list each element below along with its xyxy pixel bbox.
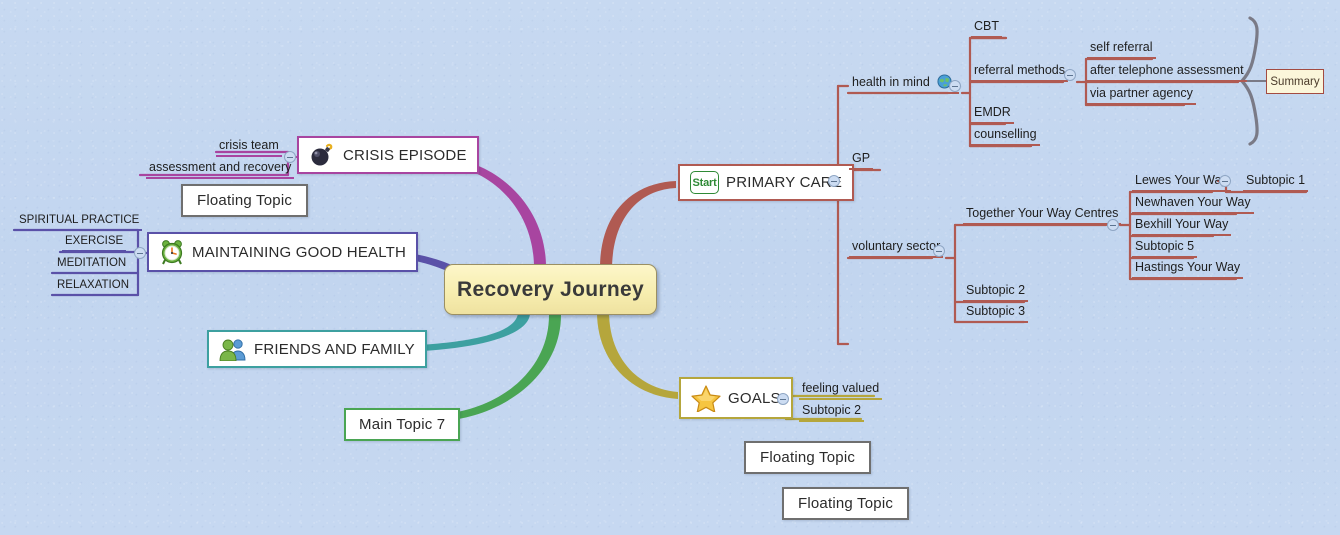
alarm-clock-icon <box>159 239 185 265</box>
bomb-icon <box>309 143 336 167</box>
central-topic[interactable]: Recovery Journey <box>444 264 657 315</box>
collapse-toggle-goals[interactable] <box>777 393 789 405</box>
floating-topic-3-label: Floating Topic <box>798 495 893 512</box>
collapse-toggle-lewes-your-way[interactable] <box>1219 175 1231 187</box>
subtopic-goals-subtopic-2[interactable]: Subtopic 2 <box>799 403 864 422</box>
collapse-toggle-maintaining-good-health[interactable] <box>134 247 146 259</box>
subtopic-health-in-mind-label: health in mind <box>852 75 930 89</box>
main-topic-primary-care-label: PRIMARY CARE <box>726 174 842 191</box>
subtopic-lewes-your-way[interactable]: Lewes Your Way <box>1132 173 1231 192</box>
subtopic-gp[interactable]: GP <box>849 151 873 170</box>
summary-topic-label: Summary <box>1270 76 1319 88</box>
subtopic-after-telephone-assessment[interactable]: after telephone assessment <box>1087 63 1247 82</box>
main-topic-crisis-episode-label: CRISIS EPISODE <box>343 147 467 164</box>
subtopic-meditation[interactable]: MEDITATION <box>54 257 129 274</box>
collapse-toggle-together-your-way-centres[interactable] <box>1107 219 1119 231</box>
collapse-toggle-voluntary-sector[interactable] <box>933 245 945 257</box>
subtopic-spiritual-practice[interactable]: SPIRITUAL PRACTICE <box>16 214 142 231</box>
subtopic-voluntary-subtopic-3[interactable]: Subtopic 3 <box>963 304 1028 323</box>
floating-topic-2-label: Floating Topic <box>760 449 855 466</box>
subtopic-referral-methods[interactable]: referral methods <box>971 63 1068 82</box>
star-icon <box>691 384 721 412</box>
main-topic-7[interactable]: Main Topic 7 <box>344 408 460 441</box>
subtopic-hastings-your-way[interactable]: Hastings Your Way <box>1132 260 1243 279</box>
main-topic-goals[interactable]: GOALS <box>679 377 793 419</box>
main-topic-maintaining-good-health[interactable]: MAINTAINING GOOD HEALTH <box>147 232 418 272</box>
subtopic-subtopic-5[interactable]: Subtopic 5 <box>1132 239 1197 258</box>
subtopic-newhaven-your-way[interactable]: Newhaven Your Way <box>1132 195 1254 214</box>
subtopic-emdr[interactable]: EMDR <box>971 105 1014 124</box>
subtopic-feeling-valued[interactable]: feeling valued <box>799 381 882 400</box>
collapse-toggle-primary-care[interactable] <box>828 175 840 187</box>
subtopic-counselling[interactable]: counselling <box>971 127 1040 146</box>
subtopic-relaxation[interactable]: RELAXATION <box>54 279 132 296</box>
subtopic-together-your-way-centres[interactable]: Together Your Way Centres <box>963 206 1121 225</box>
main-topic-goals-label: GOALS <box>728 390 781 407</box>
subtopic-health-in-mind[interactable]: health in mind <box>849 74 959 94</box>
main-topic-friends-and-family-label: FRIENDS AND FAMILY <box>254 341 415 358</box>
central-topic-label: Recovery Journey <box>457 278 644 302</box>
subtopic-crisis-team[interactable]: crisis team <box>216 138 282 157</box>
subtopic-via-partner-agency[interactable]: via partner agency <box>1087 86 1196 105</box>
subtopic-assessment-and-recovery[interactable]: assessment and recovery <box>146 160 294 179</box>
floating-topic-1-label: Floating Topic <box>197 192 292 209</box>
summary-topic[interactable]: Summary <box>1266 69 1324 94</box>
subtopic-exercise[interactable]: EXERCISE <box>62 235 126 252</box>
subtopic-subtopic-1[interactable]: Subtopic 1 <box>1243 173 1308 192</box>
main-topic-friends-and-family[interactable]: FRIENDS AND FAMILY <box>207 330 427 368</box>
main-topic-crisis-episode[interactable]: CRISIS EPISODE <box>297 136 479 174</box>
collapse-toggle-health-in-mind[interactable] <box>949 80 961 92</box>
people-icon <box>219 337 247 361</box>
collapse-toggle-referral-methods[interactable] <box>1064 69 1076 81</box>
main-topic-maintaining-good-health-label: MAINTAINING GOOD HEALTH <box>192 244 406 261</box>
subtopic-voluntary-subtopic-2[interactable]: Subtopic 2 <box>963 283 1028 302</box>
subtopic-bexhill-your-way[interactable]: Bexhill Your Way <box>1132 217 1231 236</box>
start-icon: Start <box>690 171 719 194</box>
floating-topic-2[interactable]: Floating Topic <box>744 441 871 474</box>
subtopic-voluntary-sector[interactable]: voluntary sector <box>849 239 943 258</box>
main-topic-7-label: Main Topic 7 <box>359 416 445 433</box>
floating-topic-1[interactable]: Floating Topic <box>181 184 308 217</box>
subtopic-cbt[interactable]: CBT <box>971 19 1002 38</box>
floating-topic-3[interactable]: Floating Topic <box>782 487 909 520</box>
subtopic-self-referral[interactable]: self referral <box>1087 40 1156 59</box>
